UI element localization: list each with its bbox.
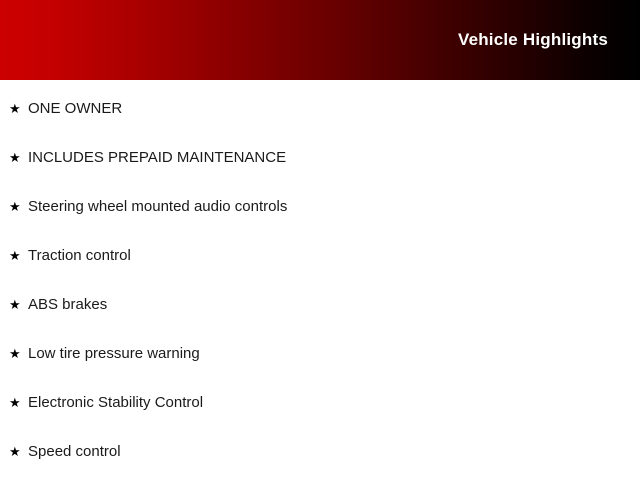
highlight-label: ABS brakes — [28, 295, 107, 314]
highlight-label: Low tire pressure warning — [28, 344, 200, 363]
highlight-label: ONE OWNER — [28, 99, 122, 118]
list-item: ★ Electronic Stability Control — [0, 393, 640, 442]
list-item: ★ Traction control — [0, 246, 640, 295]
star-icon: ★ — [9, 344, 28, 363]
star-icon: ★ — [9, 393, 28, 412]
star-icon: ★ — [9, 295, 28, 314]
star-icon: ★ — [9, 197, 28, 216]
star-icon: ★ — [9, 246, 28, 265]
list-item: ★ Speed control — [0, 442, 640, 491]
vehicle-highlights-panel: Vehicle Highlights ★ ONE OWNER ★ INCLUDE… — [0, 0, 640, 480]
list-item: ★ Steering wheel mounted audio controls — [0, 197, 640, 246]
star-icon: ★ — [9, 442, 28, 461]
list-item: ★ ABS brakes — [0, 295, 640, 344]
highlight-label: Speed control — [28, 442, 121, 461]
vehicle-highlights-list: ★ ONE OWNER ★ INCLUDES PREPAID MAINTENAN… — [0, 80, 640, 491]
header-banner: Vehicle Highlights — [0, 0, 640, 80]
page-title: Vehicle Highlights — [458, 30, 608, 50]
highlight-label: Steering wheel mounted audio controls — [28, 197, 287, 216]
list-item: ★ Low tire pressure warning — [0, 344, 640, 393]
highlight-label: Traction control — [28, 246, 131, 265]
list-item: ★ ONE OWNER — [0, 80, 640, 148]
star-icon: ★ — [9, 148, 28, 167]
highlight-label: Electronic Stability Control — [28, 393, 203, 412]
list-item: ★ INCLUDES PREPAID MAINTENANCE — [0, 148, 640, 197]
highlight-label: INCLUDES PREPAID MAINTENANCE — [28, 148, 286, 167]
star-icon: ★ — [9, 99, 28, 118]
